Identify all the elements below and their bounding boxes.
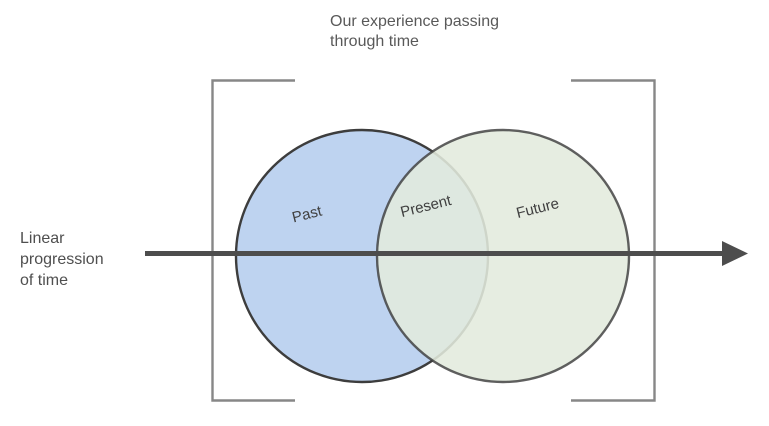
- time-arrow-head: [722, 241, 748, 266]
- diagram-title: Our experience passingthrough time: [330, 12, 499, 52]
- axis-label-line1: Linear: [20, 230, 64, 247]
- diagram-title-line1: Our experience passing: [330, 13, 499, 30]
- axis-label-line3: of time: [20, 272, 68, 289]
- axis-label: Linearprogressionof time: [20, 228, 104, 291]
- axis-label-line2: progression: [20, 251, 104, 268]
- diagram-canvas: Our experience passingthrough time Linea…: [0, 0, 769, 426]
- time-venn-diagram: [0, 0, 769, 426]
- diagram-title-line2: through time: [330, 33, 419, 50]
